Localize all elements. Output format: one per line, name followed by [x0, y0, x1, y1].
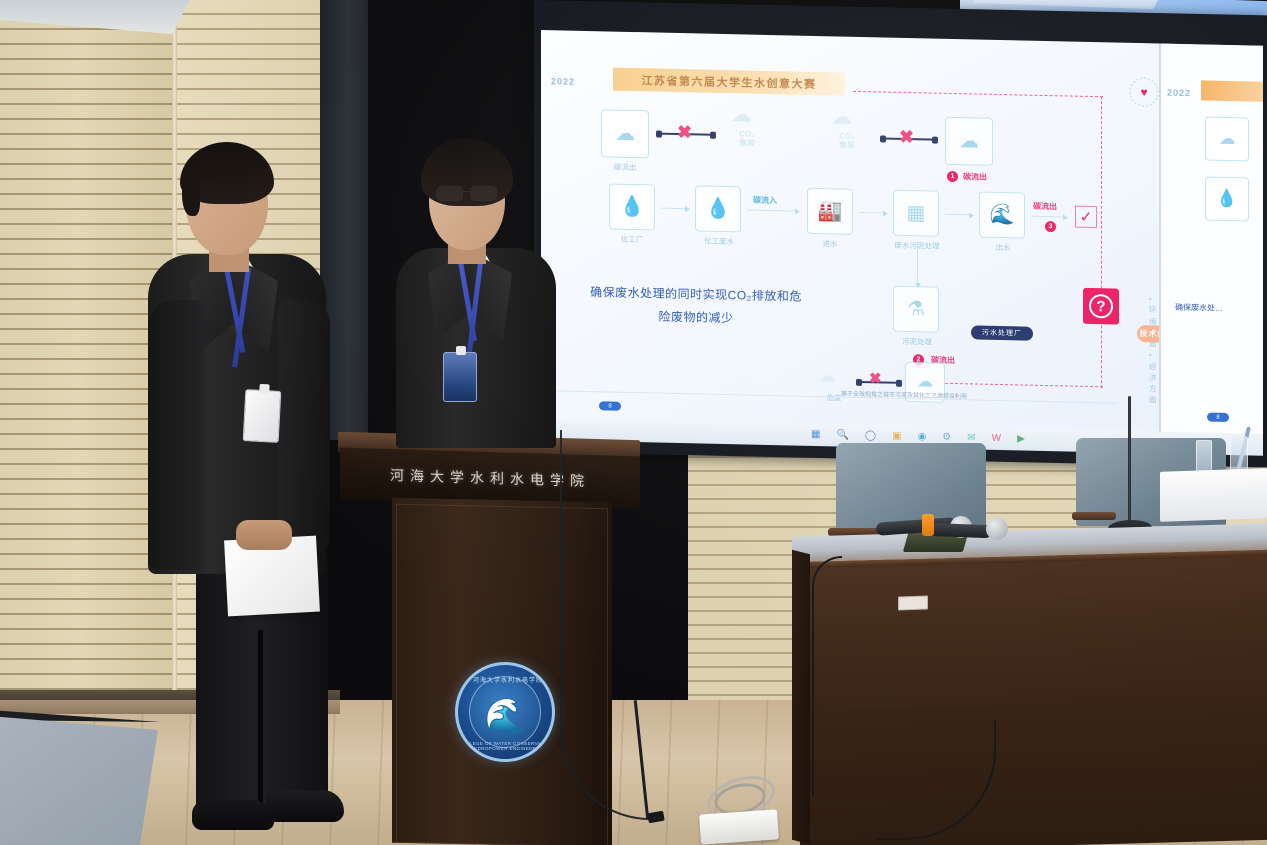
- folder-icon[interactable]: ◯: [865, 431, 876, 441]
- presenter-left-leg-split: [258, 630, 263, 820]
- presenter-right-hair: [421, 138, 513, 206]
- slide-secondary-panel: 2022 ☁ 💧 确保废水处… 8: [1159, 43, 1263, 435]
- cross-out-icon-3: ✖: [869, 371, 882, 386]
- power-strip: [699, 809, 779, 844]
- desk-cable: [812, 556, 842, 796]
- cloud-ghost-icon-1: ☁: [731, 102, 752, 127]
- arrow-2: [747, 209, 799, 211]
- browser-icon[interactable]: ◉: [918, 432, 927, 442]
- co2-label-2: CO₂焦炭: [825, 132, 869, 151]
- slide-logo: 2022: [551, 76, 575, 87]
- beaker-icon: ⚗: [907, 299, 925, 319]
- projection-screen[interactable]: 2022 江苏省第六届大学生水创意大赛 ☁ 碳流出 ✖ ☁ CO₂焦炭 ☁ CO…: [541, 30, 1263, 436]
- wave-icon: 🌊: [990, 205, 1015, 226]
- number-badge-3: 3: [1045, 221, 1056, 232]
- diagram-node-cloud-2: ☁: [945, 117, 993, 166]
- slide-main-panel: 2022 江苏省第六届大学生水创意大赛 ☁ 碳流出 ✖ ☁ CO₂焦炭 ☁ CO…: [541, 30, 1161, 434]
- microphone-clip: [922, 514, 934, 536]
- cloud-icon-2: ☁: [959, 131, 979, 151]
- timer-ring: ♥: [1129, 77, 1159, 108]
- arrow-1: [661, 208, 689, 210]
- arrow-5: [1031, 216, 1067, 218]
- diagram-node-effluent: 🌊: [979, 192, 1025, 239]
- panel-desk-side: [792, 550, 810, 844]
- checkmark-box: ✓: [1075, 206, 1097, 228]
- droplet-icon-1: 💧: [620, 197, 645, 218]
- slide2-page-chip: 8: [1207, 413, 1229, 422]
- heart-icon: ♥: [1140, 85, 1147, 99]
- wave-icon-emblem: 🌊: [484, 699, 532, 741]
- presenter-left-shoe-left: [192, 800, 274, 830]
- university-emblem: 河海大学水利水电学院 🌊 COLLEGE OF WATER CONSERVANC…: [455, 662, 555, 762]
- slide-title-banner: 江苏省第六届大学生水创意大赛: [613, 68, 845, 96]
- cloud-icon: ☁: [615, 124, 635, 144]
- note-icon[interactable]: ▣: [892, 432, 901, 442]
- slide2-node-1: ☁: [1205, 116, 1249, 161]
- panel-desk-front: [800, 550, 1267, 845]
- slide2-node-2: 💧: [1205, 176, 1249, 221]
- diagram-node-influent: 🏭: [807, 188, 853, 235]
- cross-out-icon-2: ✖: [899, 128, 914, 146]
- office-icon[interactable]: ▦: [811, 430, 820, 440]
- desk-nameplate-label: [898, 595, 928, 610]
- diagram-label-wastewater: 化工废水: [691, 235, 747, 247]
- chair-arm-right: [1072, 512, 1116, 520]
- plant-pill: 污水处理厂: [971, 325, 1033, 340]
- conference-room-photo: 2022 江苏省第六届大学生水创意大赛 ☁ 碳流出 ✖ ☁ CO₂焦炭 ☁ CO…: [0, 0, 1267, 845]
- dashed-route-top: [853, 91, 1103, 97]
- arrow-3: [859, 212, 887, 214]
- slide2-caption: 确保废水处…: [1175, 302, 1223, 314]
- handheld-microphone-2-head: [986, 518, 1008, 540]
- gooseneck-microphone: [1128, 396, 1131, 528]
- co2-label-1: CO₂焦炭: [725, 130, 769, 149]
- water-glass-1: [1196, 440, 1212, 474]
- slide-footnote: 基于全球视角之城市污泥及其化工之源综合利用: [841, 389, 1151, 416]
- factory-icon: 🏭: [818, 201, 843, 222]
- droplet-icon-2: 💧: [706, 199, 731, 220]
- handheld-microphone-2: [924, 523, 992, 538]
- presenter-left-arm-left: [148, 300, 204, 570]
- diagram-label-effluent: 出水: [979, 242, 1027, 254]
- number-badge-1: 1: [947, 171, 958, 182]
- presenter-right-glasses-left-lens: [436, 186, 463, 201]
- diagram-label-influent: 进水: [805, 238, 855, 250]
- cross-out-icon-1: ✖: [677, 123, 692, 141]
- dashed-route-bottom: [945, 383, 1103, 387]
- diagram-label-chem-plant: 化工厂: [607, 233, 657, 245]
- podium-microphone-cable: [560, 430, 650, 820]
- page-chip: 8: [599, 401, 621, 410]
- flow-tag-carbon-in: 碳流入: [753, 195, 777, 207]
- mail-icon[interactable]: ✉: [967, 433, 975, 443]
- presenter-left-badge: [243, 389, 282, 443]
- presenter-left-hands: [236, 520, 292, 550]
- question-box: ?: [1083, 288, 1119, 325]
- diagram-node-sludge-treatment: ▦: [893, 190, 939, 237]
- diagram-node-sludge-disposal: ⚗: [893, 286, 939, 333]
- word-icon[interactable]: W: [992, 434, 1001, 444]
- flow-tag-carbon-out-2: 碳流出: [963, 171, 987, 183]
- diagram-label-carbon-out-1: 碳流出: [599, 161, 651, 173]
- app-icon[interactable]: ▶: [1017, 434, 1025, 444]
- slide-title-text: 江苏省第六届大学生水创意大赛: [642, 72, 817, 92]
- diagram-label-sludge-disposal: 污泥处理: [889, 336, 945, 348]
- cloud-icon-3: ☁: [917, 374, 933, 390]
- presenter-right-glasses-right-lens: [470, 186, 497, 201]
- question-mark-icon: ?: [1089, 294, 1113, 319]
- diagram-node-wastewater: 💧: [695, 185, 741, 232]
- dashed-route-right: [1101, 96, 1102, 388]
- white-tray: [1160, 468, 1267, 522]
- presenter-right-badge: [443, 352, 477, 402]
- cloud-ghost-icon-2: ☁: [831, 104, 852, 129]
- check-icon: ✓: [1080, 208, 1093, 226]
- flow-tag-carbon-out-3: 碳流出: [1033, 201, 1057, 213]
- diagram-node-cloud-1: ☁: [601, 109, 649, 158]
- slide2-logo: 2022: [1167, 88, 1191, 99]
- search-icon[interactable]: 🔍: [836, 430, 848, 440]
- arrow-4: [945, 214, 973, 216]
- tank-icon: ▦: [907, 203, 926, 223]
- presenter-right-glasses-bridge: [462, 191, 471, 192]
- settings-icon[interactable]: ⚙: [942, 433, 951, 443]
- plant-pill-text: 污水处理厂: [982, 328, 1022, 339]
- emblem-top-text: 河海大学水利水电学院: [458, 675, 555, 684]
- presenter-left-arm-right: [278, 300, 330, 550]
- arrow-down-1: [917, 242, 918, 284]
- slide2-title-banner: [1201, 80, 1263, 102]
- slide-body-text: 确保废水处理的同时实现CO₂排放和危 险废物的减少: [571, 281, 821, 332]
- diagram-node-chem-plant: 💧: [609, 183, 655, 230]
- cloud-ghost-icon-3: ☁: [819, 366, 836, 386]
- emblem-bottom-text: COLLEGE OF WATER CONSERVANCY & HYDROPOWE…: [458, 741, 555, 751]
- presenter-left-shoe-right: [266, 790, 344, 822]
